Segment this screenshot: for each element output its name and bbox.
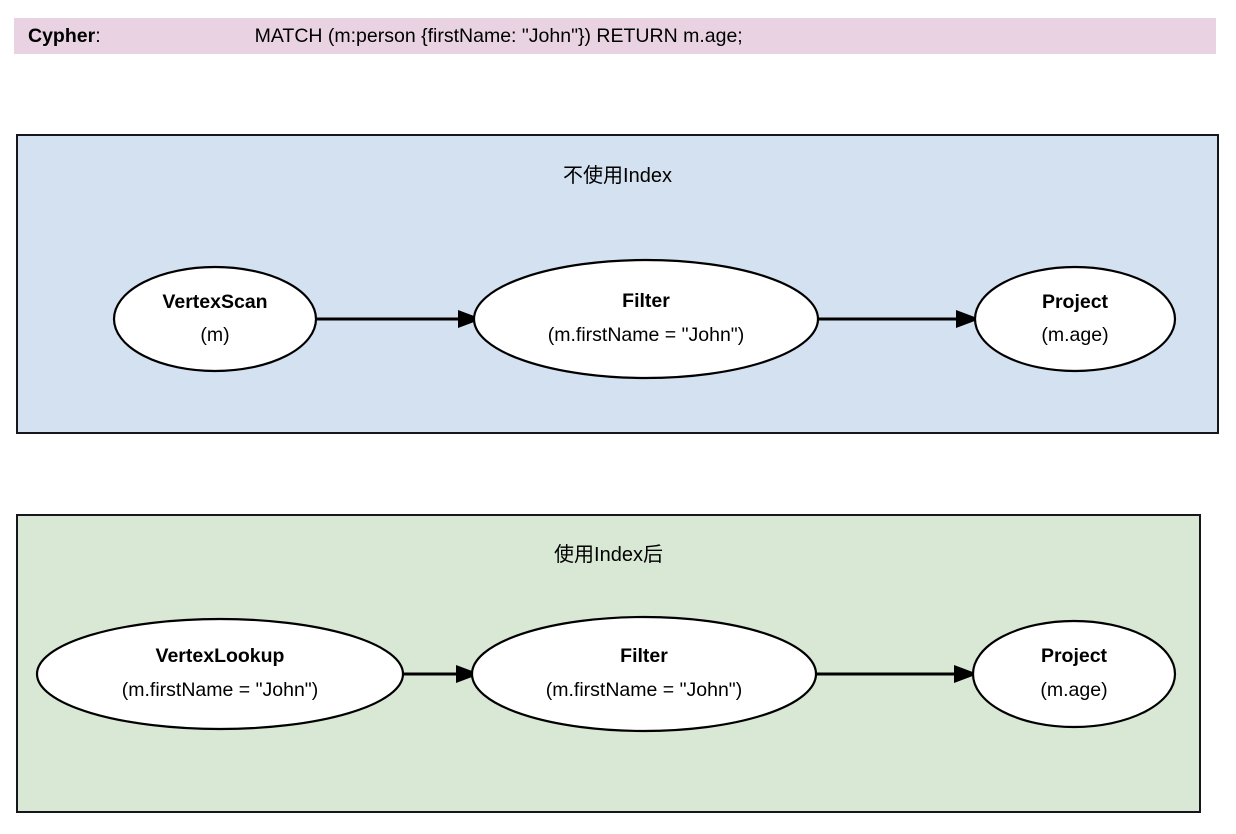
- panel-with-index: 使用Index后 VertexLookup (m.firstName = "Jo…: [16, 514, 1201, 813]
- node-project-title: Project: [1041, 645, 1108, 667]
- cypher-query-text: MATCH (m:person {firstName: "John"}) RET…: [255, 25, 743, 48]
- edge-filter-project: [818, 310, 980, 328]
- node-project[interactable]: Project (m.age): [973, 621, 1175, 727]
- cypher-label-text: Cypher: [28, 25, 95, 47]
- edge-filter-project: [816, 665, 978, 683]
- cypher-label: Cypher:: [28, 25, 101, 48]
- node-project[interactable]: Project (m.age): [975, 267, 1175, 371]
- node-vertexscan[interactable]: VertexScan (m): [114, 267, 316, 371]
- panel-no-index: 不使用Index VertexScan (m) Filter (m.firstN…: [16, 134, 1219, 434]
- plan-graph-no-index: VertexScan (m) Filter (m.firstName = "Jo…: [18, 136, 1217, 432]
- node-vertexlookup-title: VertexLookup: [156, 645, 285, 667]
- edge-vertexscan-filter: [316, 310, 482, 328]
- node-vertexlookup-sub: (m.firstName = "John"): [122, 679, 318, 701]
- node-project-title: Project: [1042, 291, 1109, 313]
- cypher-query-banner: Cypher: MATCH (m:person {firstName: "Joh…: [14, 18, 1216, 54]
- node-filter-sub: (m.firstName = "John"): [548, 324, 744, 346]
- node-filter[interactable]: Filter (m.firstName = "John"): [472, 617, 816, 731]
- plan-graph-with-index: VertexLookup (m.firstName = "John") Filt…: [18, 516, 1199, 811]
- node-vertexscan-sub: (m): [200, 324, 229, 346]
- node-project-sub: (m.age): [1041, 324, 1108, 346]
- node-filter-title: Filter: [622, 290, 670, 312]
- node-project-sub: (m.age): [1040, 679, 1107, 701]
- node-filter-sub: (m.firstName = "John"): [546, 679, 742, 701]
- node-filter[interactable]: Filter (m.firstName = "John"): [474, 260, 818, 378]
- cypher-label-colon: :: [95, 25, 100, 47]
- node-filter-title: Filter: [620, 645, 668, 667]
- node-vertexscan-title: VertexScan: [162, 291, 267, 313]
- node-vertexlookup[interactable]: VertexLookup (m.firstName = "John"): [37, 619, 403, 729]
- edge-vertexlookup-filter: [403, 665, 480, 683]
